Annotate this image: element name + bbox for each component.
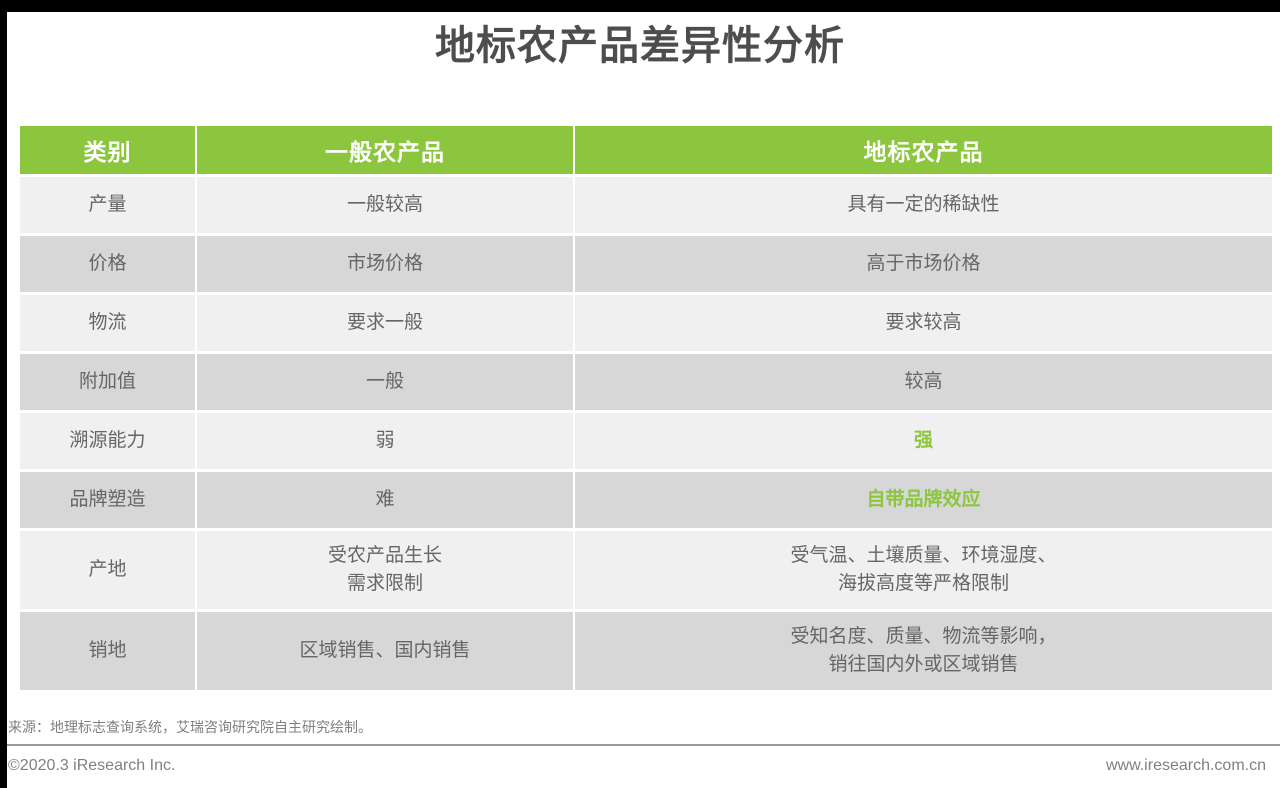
cell-category: 销地 bbox=[20, 612, 195, 690]
cell-line: 海拔高度等严格限制 bbox=[575, 570, 1272, 598]
table-body: 产量 一般较高 具有一定的稀缺性 价格 市场价格 高于市场价格 物流 要求一般 … bbox=[20, 177, 1272, 690]
table-row: 销地 区域销售、国内销售 受知名度、质量、物流等影响， 销往国内外或区域销售 bbox=[20, 612, 1272, 690]
table-row: 产量 一般较高 具有一定的稀缺性 bbox=[20, 177, 1272, 233]
cell-geographical: 具有一定的稀缺性 bbox=[575, 177, 1272, 233]
cell-geographical: 要求较高 bbox=[575, 295, 1272, 351]
comparison-table: 类别 一般农产品 地标农产品 产量 一般较高 具有一定的稀缺性 价格 市场价格 … bbox=[18, 123, 1274, 693]
cell-category: 产地 bbox=[20, 531, 195, 609]
source-note: 来源：地理标志查询系统，艾瑞咨询研究院自主研究绘制。 bbox=[8, 716, 372, 738]
comparison-table-container: 类别 一般农产品 地标农产品 产量 一般较高 具有一定的稀缺性 价格 市场价格 … bbox=[18, 123, 1272, 693]
cell-line: 受气温、土壤质量、环境湿度、 bbox=[575, 542, 1272, 570]
cell-line: 销往国内外或区域销售 bbox=[575, 651, 1272, 679]
table-row: 价格 市场价格 高于市场价格 bbox=[20, 236, 1272, 292]
cell-geographical: 受气温、土壤质量、环境湿度、 海拔高度等严格限制 bbox=[575, 531, 1272, 609]
table-row: 品牌塑造 难 自带品牌效应 bbox=[20, 472, 1272, 528]
cell-general: 弱 bbox=[197, 413, 573, 469]
cell-general: 一般较高 bbox=[197, 177, 573, 233]
cell-geographical: 较高 bbox=[575, 354, 1272, 410]
cell-category: 附加值 bbox=[20, 354, 195, 410]
website-url: www.iresearch.com.cn bbox=[1106, 754, 1266, 778]
cell-geographical: 强 bbox=[575, 413, 1272, 469]
column-header-geographical: 地标农产品 bbox=[575, 126, 1272, 174]
cell-category: 品牌塑造 bbox=[20, 472, 195, 528]
table-row: 溯源能力 弱 强 bbox=[20, 413, 1272, 469]
footer-divider bbox=[0, 744, 1280, 746]
cell-line: 受农产品生长 bbox=[197, 542, 573, 570]
cell-geographical: 自带品牌效应 bbox=[575, 472, 1272, 528]
page-title: 地标农产品差异性分析 bbox=[0, 18, 1280, 74]
slide-page: 地标农产品差异性分析 类别 一般农产品 地标农产品 产量 一般较高 具有一定的稀… bbox=[0, 0, 1280, 788]
cell-general: 一般 bbox=[197, 354, 573, 410]
cell-category: 溯源能力 bbox=[20, 413, 195, 469]
cell-general: 区域销售、国内销售 bbox=[197, 612, 573, 690]
column-header-general: 一般农产品 bbox=[197, 126, 573, 174]
cell-line: 需求限制 bbox=[197, 570, 573, 598]
header-row: 类别 一般农产品 地标农产品 bbox=[20, 126, 1272, 174]
cell-general: 要求一般 bbox=[197, 295, 573, 351]
cell-category: 物流 bbox=[20, 295, 195, 351]
table-row: 物流 要求一般 要求较高 bbox=[20, 295, 1272, 351]
cell-general: 市场价格 bbox=[197, 236, 573, 292]
table-row: 产地 受农产品生长 需求限制 受气温、土壤质量、环境湿度、 海拔高度等严格限制 bbox=[20, 531, 1272, 609]
cell-category: 产量 bbox=[20, 177, 195, 233]
table-row: 附加值 一般 较高 bbox=[20, 354, 1272, 410]
cell-category: 价格 bbox=[20, 236, 195, 292]
table-header: 类别 一般农产品 地标农产品 bbox=[20, 126, 1272, 174]
cell-general: 难 bbox=[197, 472, 573, 528]
cell-line: 受知名度、质量、物流等影响， bbox=[575, 623, 1272, 651]
copyright-text: ©2020.3 iResearch Inc. bbox=[8, 754, 175, 778]
column-header-category: 类别 bbox=[20, 126, 195, 174]
cell-geographical: 高于市场价格 bbox=[575, 236, 1272, 292]
cell-general: 受农产品生长 需求限制 bbox=[197, 531, 573, 609]
page-edge-top bbox=[0, 0, 1280, 12]
page-edge-left bbox=[0, 0, 7, 788]
cell-geographical: 受知名度、质量、物流等影响， 销往国内外或区域销售 bbox=[575, 612, 1272, 690]
